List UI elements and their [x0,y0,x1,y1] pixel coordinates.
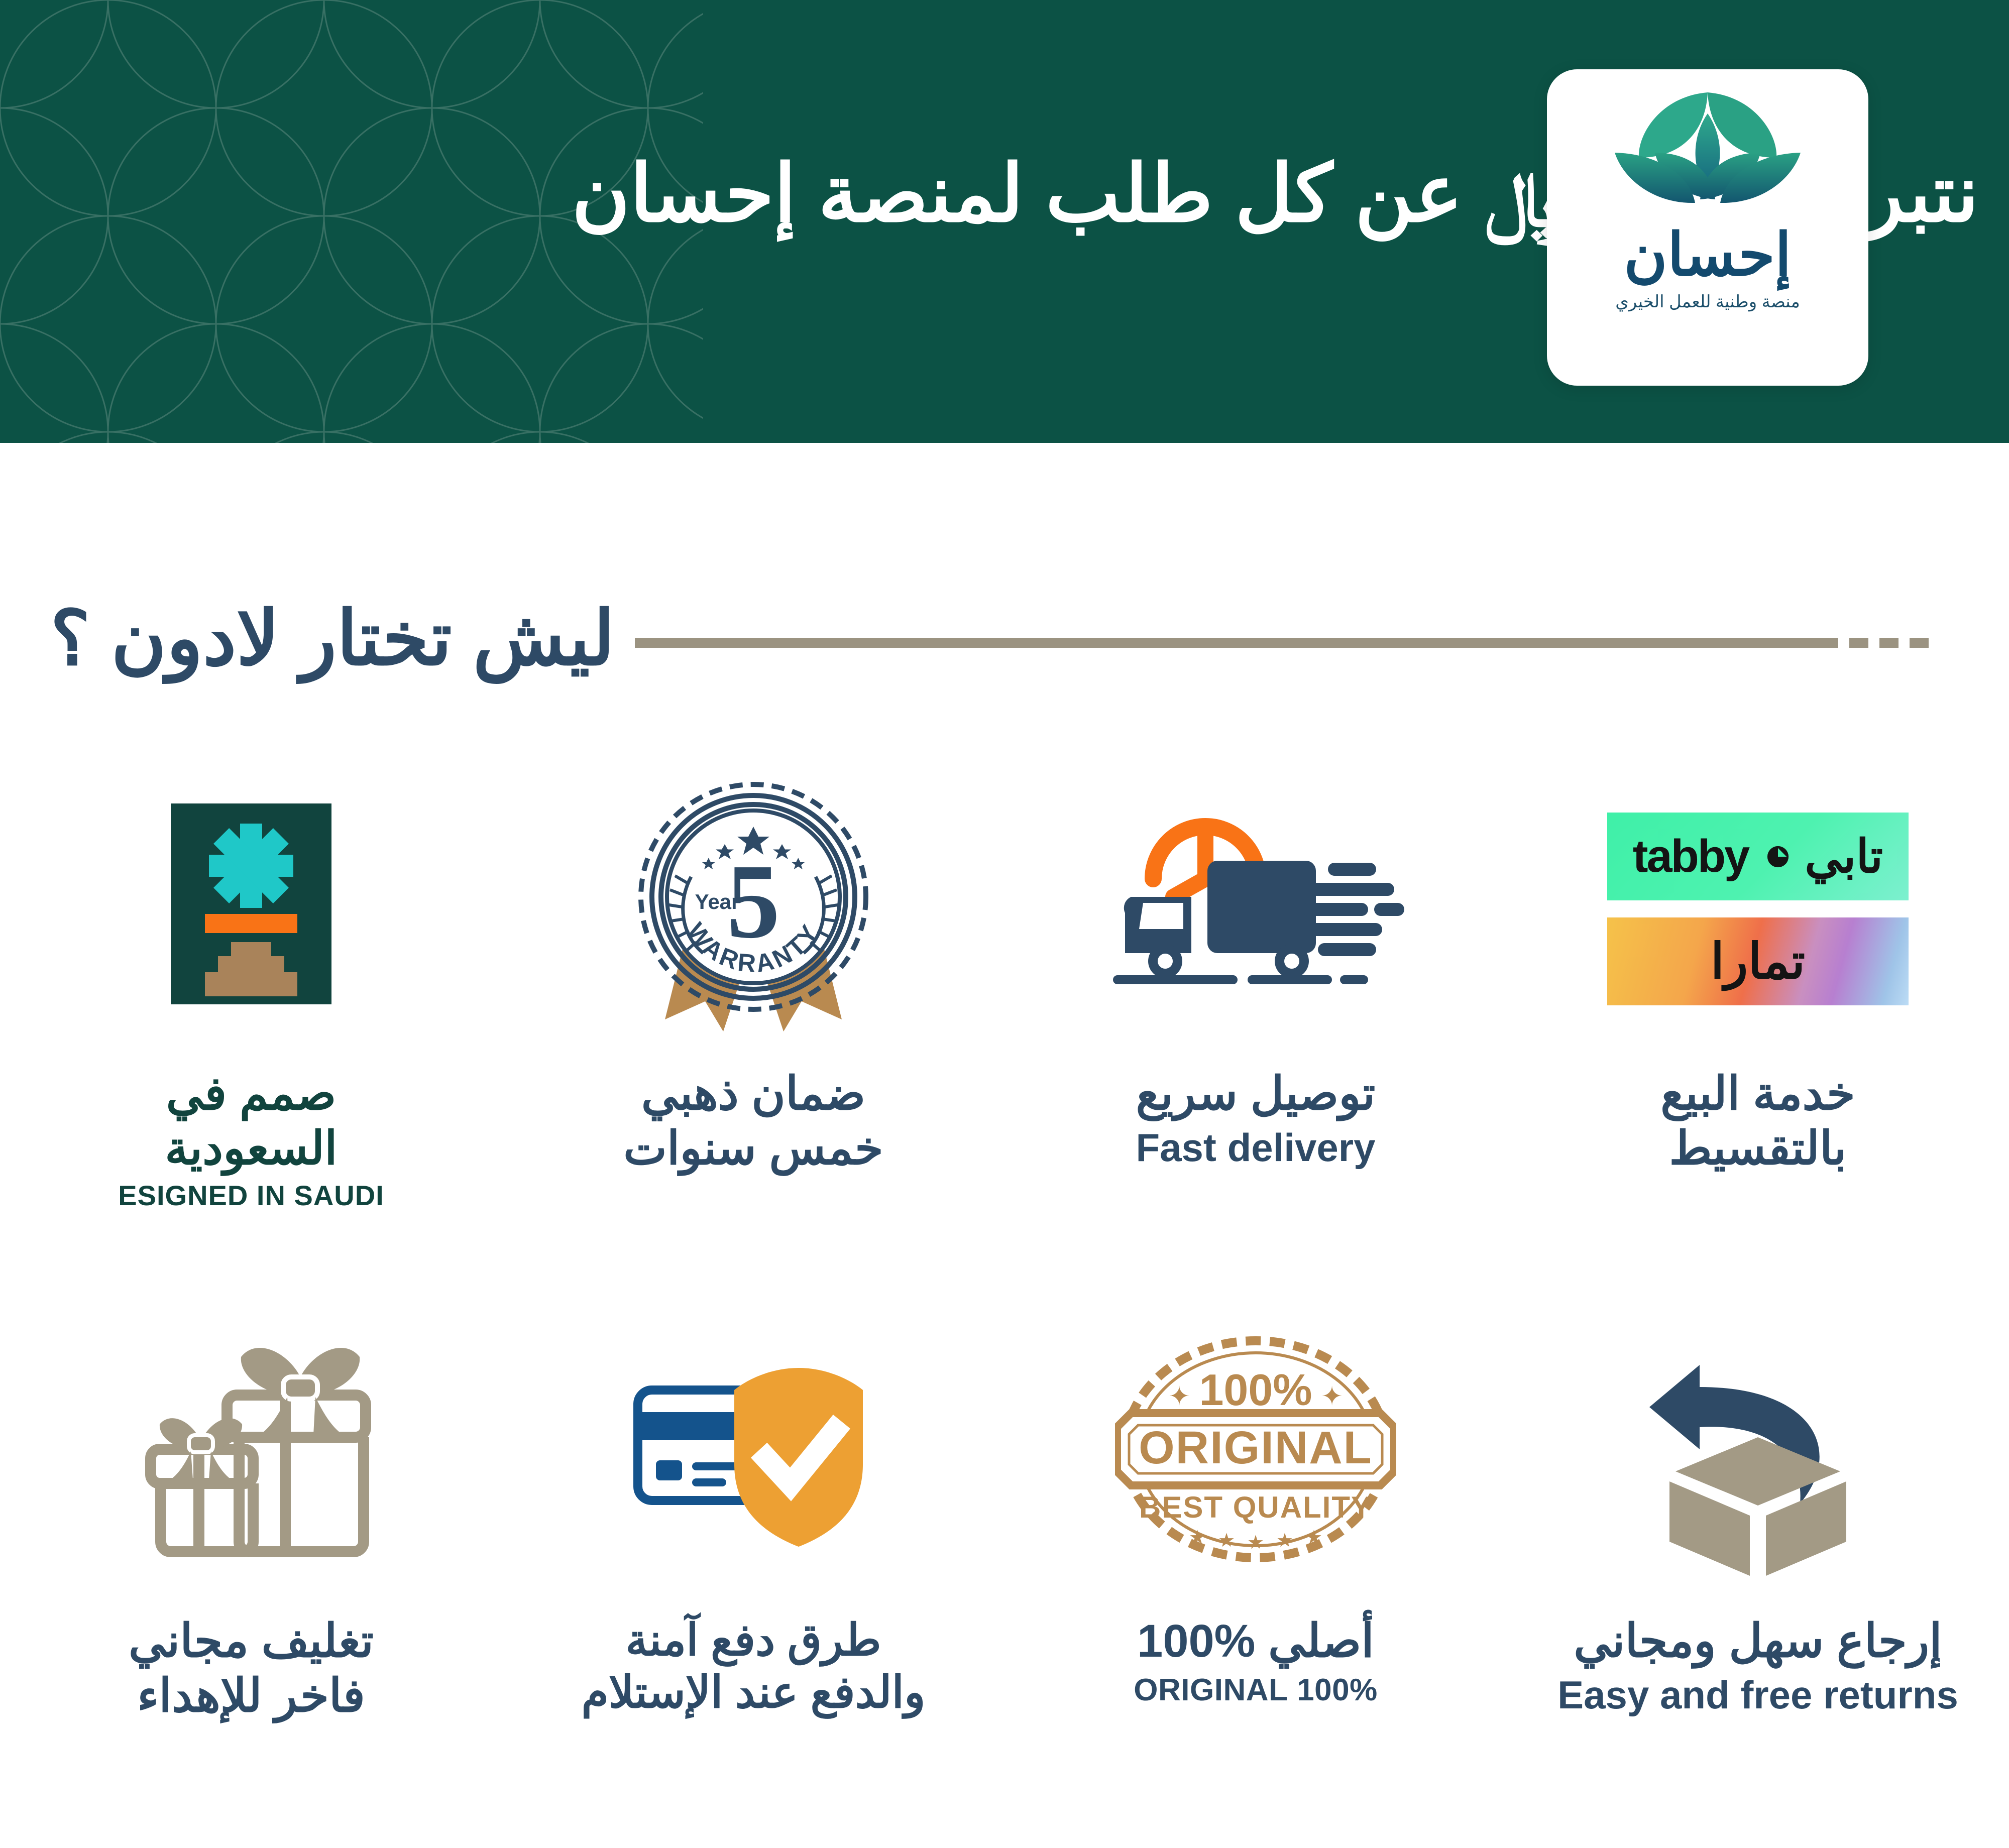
section-heading: ليش تختار لادون ؟ [0,567,2009,718]
feature-label-ar: تغليف مجاني فاخر للإهداء [0,1614,502,1723]
svg-text:★: ★ [1305,1527,1322,1548]
feature-designed-in-saudi: صمم في السعودية ESIGNED IN SAUDI [0,753,502,1301]
divider-line [635,638,1838,648]
ehsan-logo-card: إحسان منصة وطنية للعمل الخيري [1547,69,1868,386]
feature-label-ar: ضمان ذهبي خمس سنوات [502,1067,1004,1176]
feature-labels: خدمة البيع بالتقسيط [1507,1067,2009,1176]
feature-label-en: Easy and free returns [1507,1672,2009,1719]
svg-text:✦: ✦ [1321,1382,1343,1411]
feature-label-ar: إرجاع سهل ومجاني [1507,1614,2009,1669]
feature-installments: tabby تابي تمارا خدمة البيع بالتقسيط [1507,753,2009,1301]
feature-label-en: Fast delivery [1004,1124,1507,1172]
feature-label-en: ESIGNED IN SAUDI [0,1179,502,1212]
stamp-original: ORIGINAL [1139,1422,1373,1473]
tabby-logo-icon: tabby تابي [1607,813,1909,900]
stamp-percent: 100% [1199,1365,1312,1415]
warranty-badge-icon: 5 Year WARRANTY [613,778,894,1039]
designed-in-saudi-icon [161,803,342,1014]
divider-dash [1910,638,1929,648]
bnpl-providers-icon: tabby تابي تمارا [1507,753,2009,1065]
feature-label-ar: أصلي %100 [1004,1614,1507,1669]
tamara-arabic: تمارا [1711,933,1805,990]
divider-dash [1849,638,1868,648]
svg-text:✦: ✦ [1168,1382,1190,1411]
section-title: ليش تختار لادون ؟ [50,601,615,685]
svg-text:★: ★ [1247,1532,1264,1553]
feature-label-ar: طرق دفع آمنة والدفع عند الإستلام [502,1614,1004,1718]
ehsan-leaf-logo [1600,87,1816,220]
svg-text:★: ★ [1276,1530,1293,1551]
feature-label-en: 100% ORIGINAL [1004,1672,1507,1709]
feature-free-gift-wrap: تغليف مجاني فاخر للإهداء [0,1301,502,1848]
feature-secure-payment: طرق دفع آمنة والدفع عند الإستلام [502,1301,1004,1848]
feature-golden-warranty: 5 Year WARRANTY ض [502,753,1004,1301]
tamara-logo-icon: تمارا [1607,917,1909,1005]
return-box-arrow-icon [1617,1331,1899,1582]
logo-tagline: منصة وطنية للعمل الخيري [1615,292,1800,312]
tabby-latin: tabby [1633,830,1748,883]
delivery-truck-icon [1095,778,1416,1039]
section-divider [615,638,1929,648]
features-grid: tabby تابي تمارا خدمة البيع بالتقسيط [0,753,2009,1848]
stamp-best-quality: BEST QUALITY [1139,1490,1372,1524]
tabby-arabic: تابي [1805,830,1883,883]
promo-banner: نتبرع عنك بـ ﷼ عن كل طلب لمنصة إحسان [0,0,2009,443]
original-quality-stamp-icon: 100% ✦ ✦ ORIGINAL BEST QUALITY ★ ★ ★ ★ ★ [1115,1331,1396,1582]
feature-label-ar: خدمة البيع بالتقسيط [1507,1067,2009,1176]
feature-original-product: 100% ✦ ✦ ORIGINAL BEST QUALITY ★ ★ ★ ★ ★ [1004,1301,1507,1848]
tabby-star-icon [1766,845,1790,868]
divider-dash [1879,638,1899,648]
gift-boxes-icon [110,1331,392,1582]
feature-label-ar: توصيل سريع [1004,1067,1507,1121]
logo-wordmark: إحسان [1624,225,1792,285]
svg-text:★: ★ [1189,1527,1206,1548]
secure-payment-shield-icon [618,1346,889,1567]
headline-suffix: عن كل طلب لمنصة إحسان [572,150,1485,238]
feature-label-ar: صمم في السعودية [0,1067,502,1176]
warranty-year-word: Year [695,890,740,913]
svg-text:★: ★ [1218,1530,1235,1551]
feature-easy-returns: إرجاع سهل ومجاني Easy and free returns [1507,1301,2009,1848]
feature-fast-delivery: توصيل سريع Fast delivery [1004,753,1507,1301]
